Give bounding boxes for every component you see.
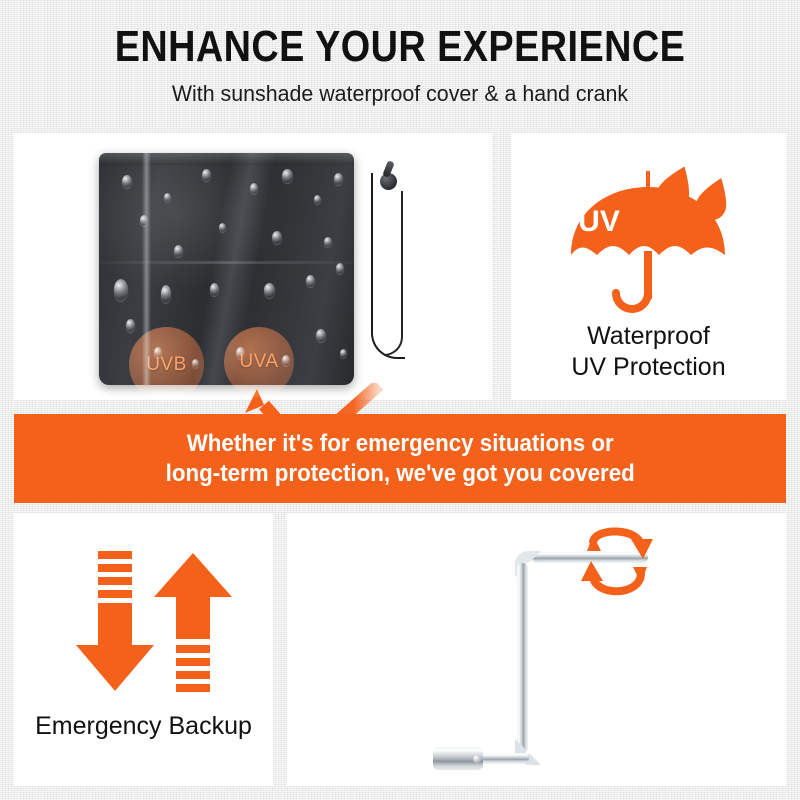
water-droplet [264,283,275,298]
hand-crank-stage [287,513,786,786]
panel-product-photo: UVB UVA [14,133,492,400]
umbrella-with-raindrops-icon: UV [511,155,786,315]
water-droplet [340,349,347,358]
water-droplet [282,169,293,183]
uva-marker: UVA [224,327,294,397]
water-droplet [202,169,211,181]
page-title: ENHANCE YOUR EXPERIENCE [56,22,744,72]
water-droplet [161,285,171,303]
water-droplet [336,263,344,274]
panel-hand-crank [287,513,786,786]
bag-fold-line [99,261,354,264]
emergency-backup-caption: Emergency Backup [14,711,273,742]
promo-banner: Whether it's for emergency situations or… [14,414,786,503]
water-droplet [272,231,282,244]
water-droplet [219,223,226,232]
water-droplet [250,183,258,194]
svg-text:UV: UV [578,205,620,238]
water-droplet [314,195,321,204]
uva-label: UVA [239,351,278,373]
water-droplet [306,275,315,287]
water-droplet [114,279,128,301]
water-droplet [122,175,132,188]
bag-top-hem [99,153,354,165]
emergency-icon-wrap [14,541,273,701]
uv-protection-caption: Waterproof UV Protection [511,321,786,383]
header: ENHANCE YOUR EXPERIENCE With sunshade wa… [0,0,800,133]
page-subtitle: With sunshade waterproof cover & a hand … [20,81,780,107]
water-droplet [164,193,171,202]
crank-rod-vertical-segment [517,563,528,753]
panel-emergency-backup: Emergency Backup [14,513,273,786]
up-down-arrows-icon [14,541,273,701]
water-droplet [126,319,135,332]
water-droplet [140,215,148,226]
product-photo-stage: UVB UVA [14,133,492,400]
water-droplet [316,329,326,342]
panel-uv-protection: UV Waterproof UV Protection [511,133,786,400]
promo-banner-text: Whether it's for emergency situations or… [165,429,634,489]
water-droplet [324,237,332,247]
water-droplet [334,173,343,185]
uv-icon-wrap: UV [511,155,786,315]
crank-socket-pin [473,755,481,763]
water-droplet [174,245,183,257]
drawstring-cord-second [384,191,403,356]
uvb-label: UVB [146,354,187,376]
water-droplet [210,283,219,296]
uvb-marker: UVB [129,327,204,402]
rotation-arrow-icon [557,521,677,611]
